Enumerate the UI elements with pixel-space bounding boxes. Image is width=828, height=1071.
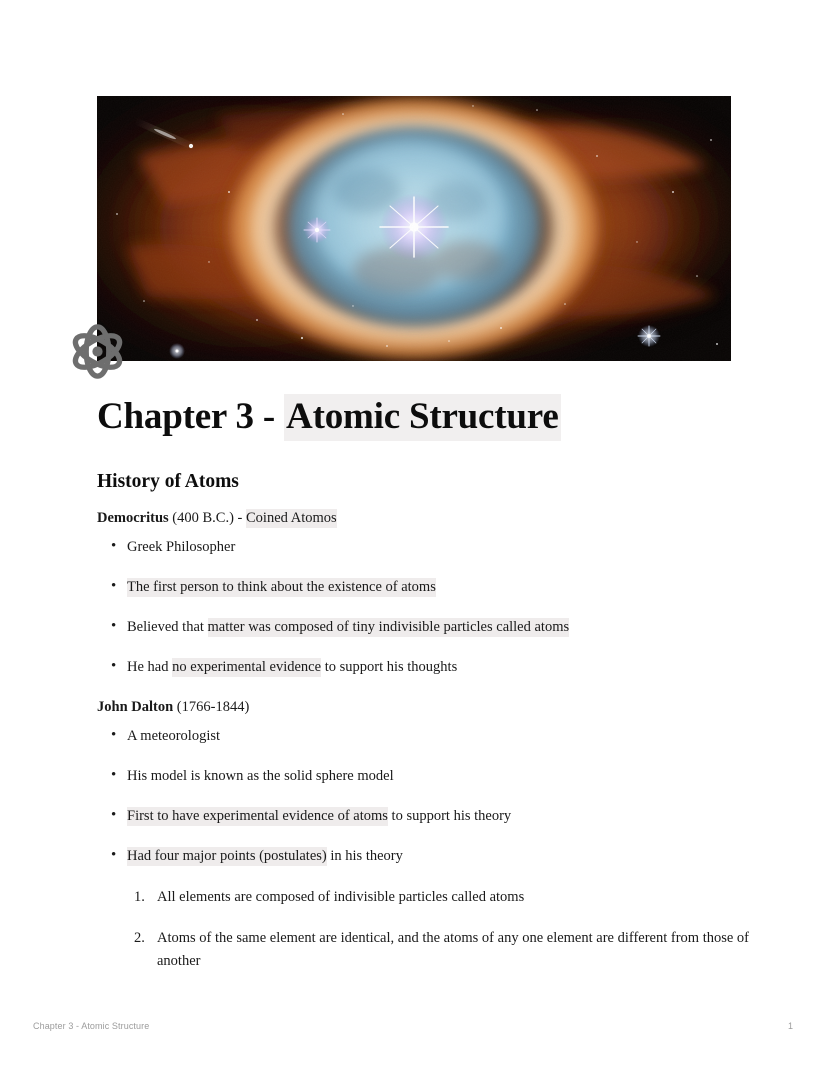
bullet-text-plain: Greek Philosopher — [127, 539, 235, 555]
bullet-text-highlight: matter was composed of tiny indivisible … — [208, 618, 570, 637]
bullet-text-tail: to support his theory — [388, 808, 511, 824]
hero-image-container — [97, 96, 731, 361]
list-item: First to have experimental evidence of a… — [97, 806, 757, 827]
democritus-bullet-list: Greek Philosopher The first person to th… — [97, 537, 757, 678]
dalton-postulates-list: All elements are composed of indivisible… — [97, 886, 757, 973]
footer-page-number: 1 — [788, 1021, 793, 1031]
list-item: The first person to think about the exis… — [97, 577, 757, 598]
list-item: Atoms of the same element are identical,… — [97, 927, 757, 974]
document-content: Chapter 3 - Atomic Structure History of … — [97, 396, 757, 991]
democritus-coined-highlight: Coined Atomos — [246, 509, 337, 528]
page-title: Chapter 3 - Atomic Structure — [97, 396, 757, 439]
bullet-text-tail: in his theory — [327, 848, 403, 864]
bullet-text-highlight: The first person to think about the exis… — [127, 578, 436, 597]
bullet-text-plain: A meteorologist — [127, 728, 220, 744]
democritus-line: Democritus (400 B.C.) - Coined Atomos — [97, 508, 757, 529]
list-item: He had no experimental evidence to suppo… — [97, 657, 757, 678]
footer-chapter-label: Chapter 3 - Atomic Structure — [33, 1021, 149, 1031]
democritus-dates: (400 B.C.) - — [169, 510, 246, 526]
bullet-text-plain: His model is known as the solid sphere m… — [127, 768, 394, 784]
democritus-name: Democritus — [97, 510, 169, 526]
bullet-text-plain: Believed that — [127, 619, 208, 635]
nebula-artwork — [97, 96, 731, 361]
atom-icon — [66, 320, 129, 383]
bullet-text-highlight: First to have experimental evidence of a… — [127, 807, 388, 826]
list-item: A meteorologist — [97, 726, 757, 747]
bullet-text-highlight: no experimental evidence — [172, 658, 321, 677]
nebula-image — [97, 96, 731, 361]
bullet-text-tail: to support his thoughts — [321, 659, 457, 675]
page-footer: Chapter 3 - Atomic Structure 1 — [0, 1021, 828, 1037]
dalton-line: John Dalton (1766-1844) — [97, 697, 757, 718]
title-highlight: Atomic Structure — [284, 394, 561, 441]
title-prefix: Chapter 3 - — [97, 396, 284, 437]
list-item: Greek Philosopher — [97, 537, 757, 558]
dalton-dates: (1766-1844) — [173, 699, 249, 715]
document-page: Chapter 3 - Atomic Structure History of … — [0, 0, 828, 1071]
dalton-name: John Dalton — [97, 699, 173, 715]
list-item: All elements are composed of indivisible… — [97, 886, 757, 909]
bullet-text-highlight: Had four major points (postulates) — [127, 847, 327, 866]
atom-icon-glyph — [66, 320, 129, 383]
dalton-bullet-list: A meteorologist His model is known as th… — [97, 726, 757, 867]
list-item: Believed that matter was composed of tin… — [97, 617, 757, 638]
list-item: Had four major points (postulates) in hi… — [97, 846, 757, 867]
bullet-text-plain: He had — [127, 659, 172, 675]
section-heading-history: History of Atoms — [97, 469, 757, 494]
list-item: His model is known as the solid sphere m… — [97, 766, 757, 787]
